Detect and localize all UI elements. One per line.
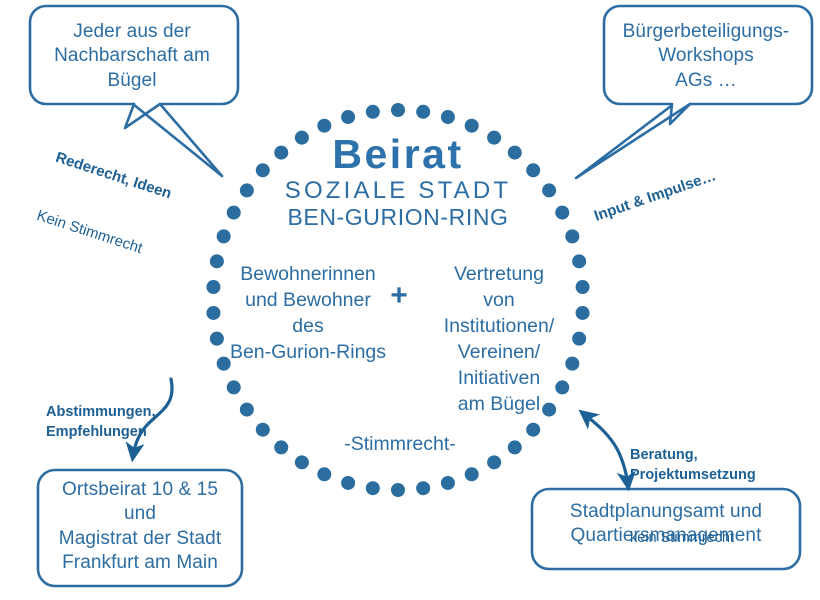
diagram-canvas: Jeder aus der Nachbarschaft am Bügel Bür… (0, 0, 820, 600)
center-right-group: Vertretung von Institutionen/ Vereinen/ … (410, 262, 588, 418)
ring-dot (441, 110, 455, 124)
center-title: Beirat (258, 128, 538, 180)
ring-dot (441, 476, 455, 490)
ring-dot (465, 467, 479, 481)
bubble-top-left-text: Jeder aus der Nachbarschaft am Bügel (34, 20, 230, 93)
plus-icon: + (386, 277, 412, 315)
ring-dot (416, 105, 430, 119)
connector-label-top-right-bold: Input & Impulse… (592, 166, 719, 226)
bubble-top-right-text: Bürgerbeteiligungs- Workshops AGs … (608, 20, 804, 93)
arrow-beratung (589, 418, 628, 485)
ring-dot (366, 481, 380, 495)
center-left-group: Bewohnerinnen und Bewohner des Ben-Gurio… (218, 262, 398, 366)
ring-dot (341, 476, 355, 490)
connector-label-top-left-regular: Kein Stimmrecht (34, 206, 155, 262)
ring-dot (526, 423, 540, 437)
connector-label-bottom-left-bold: Abstimmungen, Empfehlungen (46, 403, 156, 442)
ring-dot (391, 483, 405, 497)
ring-dot (555, 206, 569, 220)
ring-dot (227, 206, 241, 220)
connector-label-bottom-left: Abstimmungen, Empfehlungen (46, 360, 156, 486)
box-bottom-left-text: Ortsbeirat 10 & 15 und Magistrat der Sta… (42, 478, 238, 575)
ring-dot (295, 455, 309, 469)
ring-dot (366, 105, 380, 119)
ring-dot (508, 440, 522, 454)
ring-dot (217, 229, 231, 243)
connector-label-top-left-bold: Rederecht, Ideen (53, 148, 174, 204)
connector-label-bottom-right-regular: kein Stimmrecht (630, 529, 756, 549)
ring-dot (256, 423, 270, 437)
ring-dot (416, 481, 430, 495)
ring-dot (274, 440, 288, 454)
center-voting-note: -Stimmrecht- (310, 432, 490, 457)
ring-dot (565, 229, 579, 243)
connector-label-bottom-right-bold: Beratung, Projektumsetzung (630, 446, 756, 485)
center-subtitle-2: BEN-GURION-RING (248, 203, 548, 232)
ring-dot (341, 110, 355, 124)
ring-dot (227, 380, 241, 394)
ring-dot (240, 403, 254, 417)
connector-label-bottom-right: Beratung, Projektumsetzung kein Stimmrec… (630, 403, 756, 591)
ring-dot (487, 455, 501, 469)
ring-dot (317, 467, 331, 481)
ring-dot (391, 103, 405, 117)
